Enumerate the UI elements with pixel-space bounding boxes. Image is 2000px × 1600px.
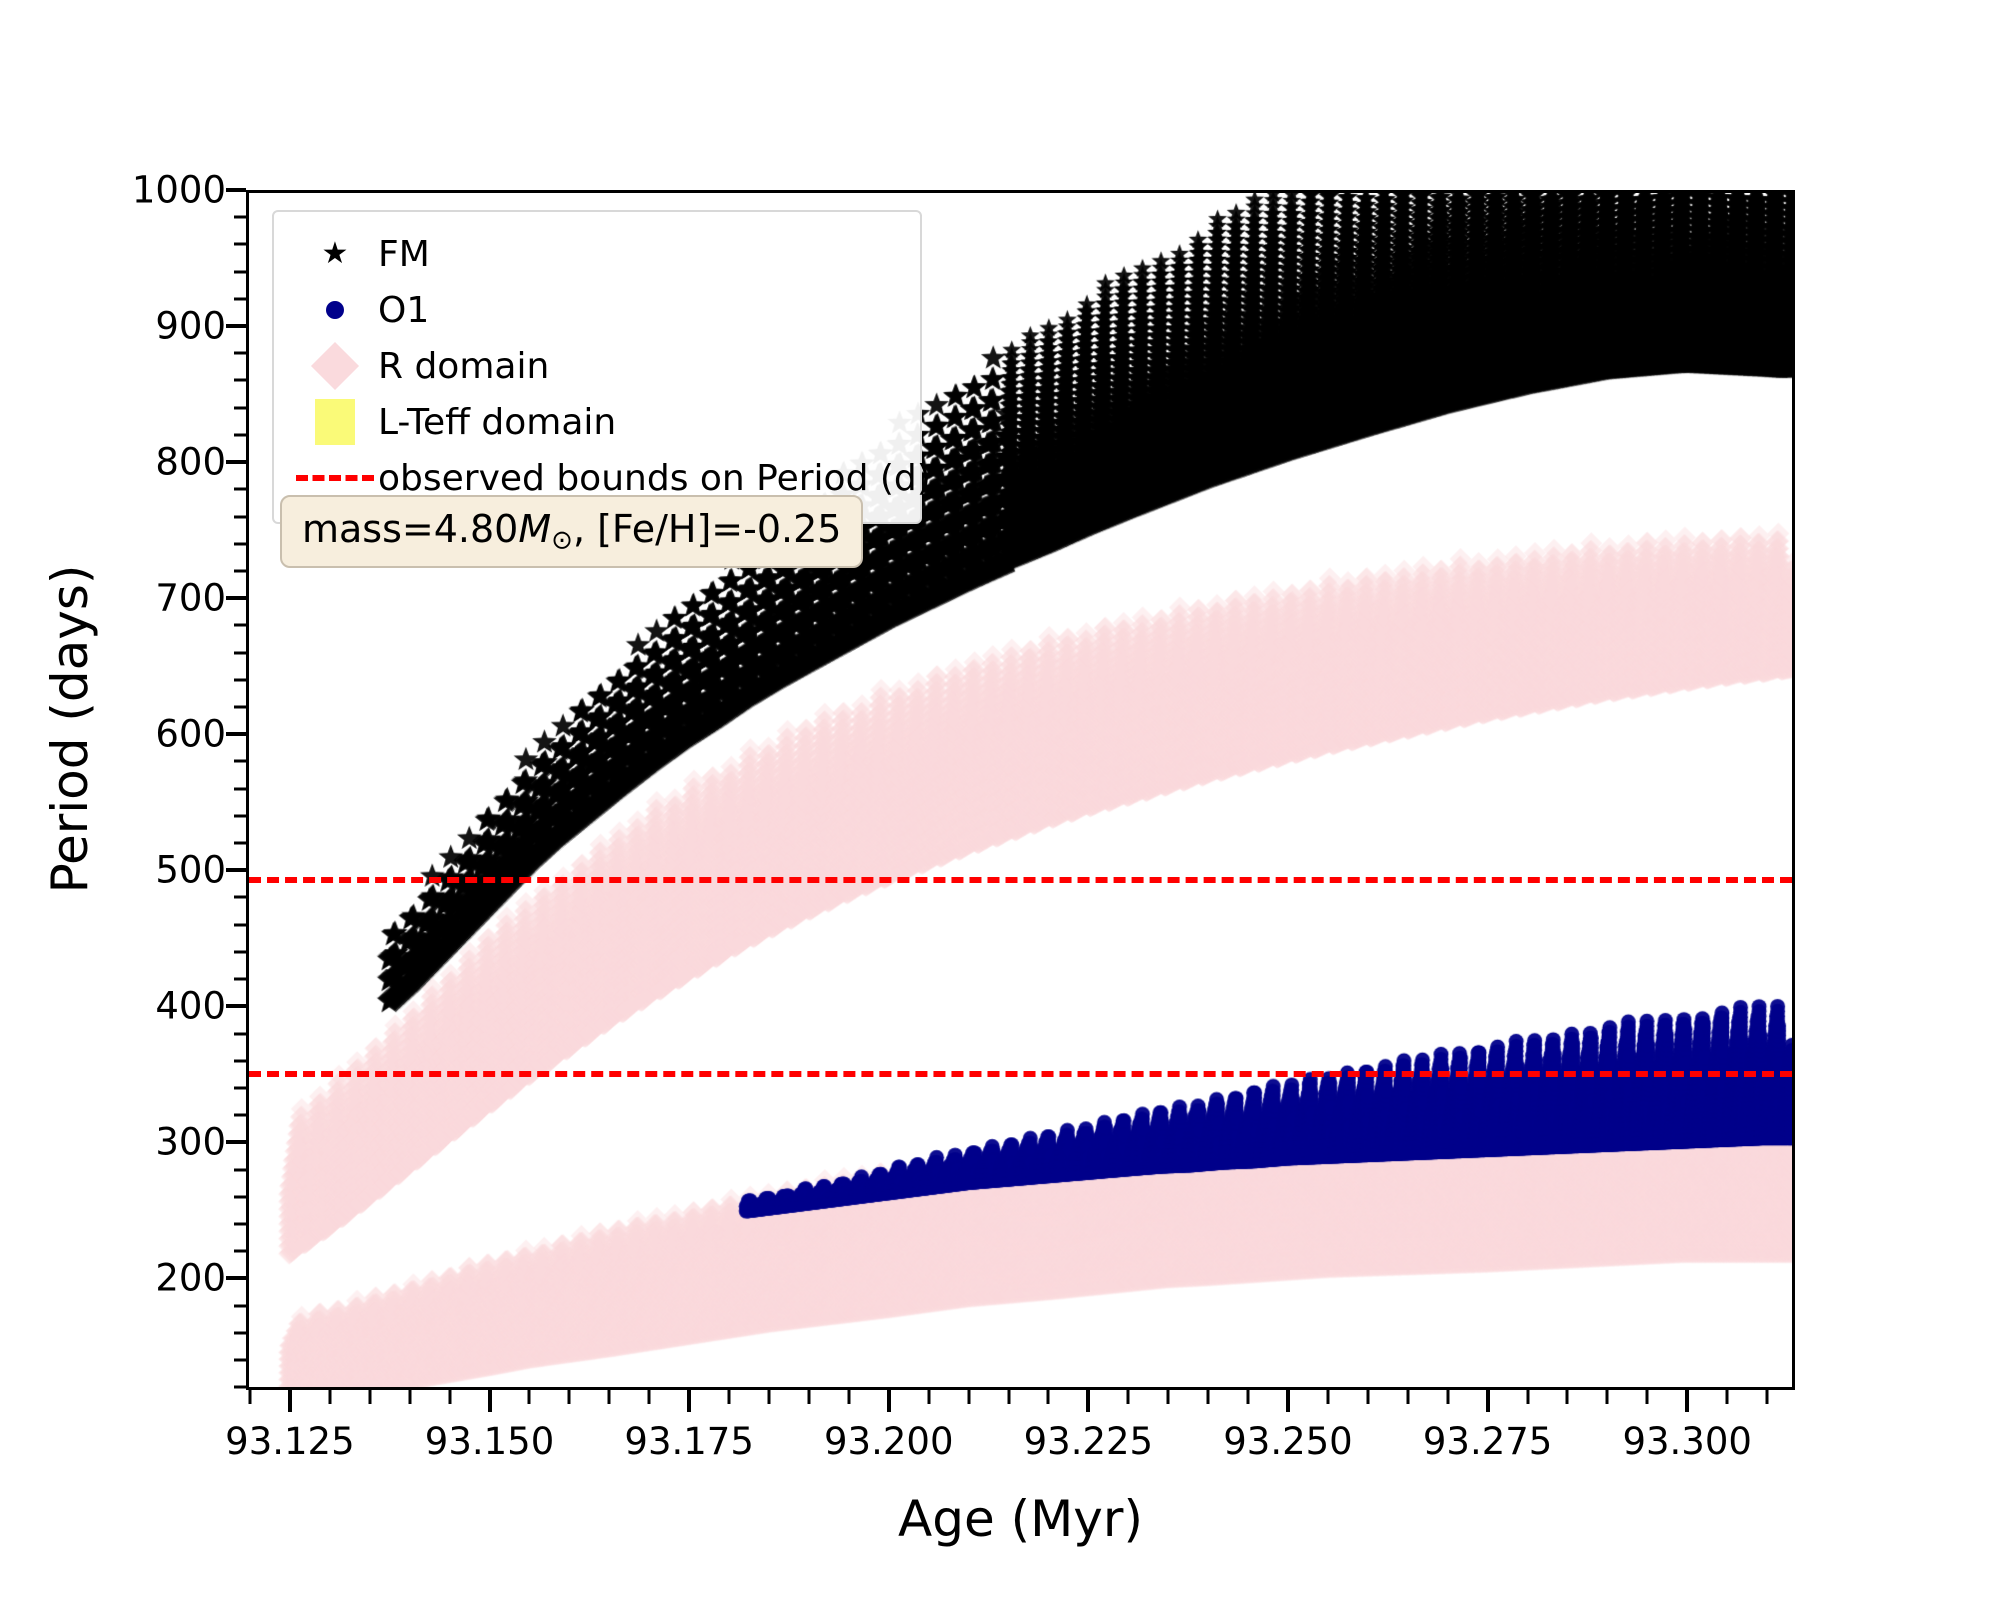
x-tick-label: 93.225 [1024, 1420, 1153, 1463]
circle-icon [292, 301, 378, 319]
y-tick-minor [234, 542, 246, 545]
annotation-prefix: mass=4.80 [302, 507, 518, 551]
x-tick-minor [1646, 1390, 1649, 1404]
x-tick-minor [1326, 1390, 1329, 1404]
x-tick-label: 93.150 [425, 1420, 554, 1463]
y-tick-minor [234, 678, 246, 681]
y-tick-label: 1000 [132, 172, 226, 209]
y-tick-minor [234, 243, 246, 246]
y-tick-minor [234, 1059, 246, 1062]
x-tick-minor [608, 1390, 611, 1404]
x-tick-major [1685, 1390, 1689, 1412]
dashed-line-icon [292, 475, 378, 481]
x-tick-label: 93.125 [225, 1420, 354, 1463]
x-tick-minor [1007, 1390, 1010, 1404]
annotation-mass-subscript: ⊙ [551, 526, 573, 556]
y-tick-major [226, 868, 246, 872]
x-tick-major [1286, 1390, 1290, 1412]
figure-root: 2003004005006007008009001000 Period (day… [0, 0, 2000, 1600]
annotation-suffix: , [Fe/H]=-0.25 [573, 507, 842, 551]
x-tick-minor [1526, 1390, 1529, 1404]
y-tick-major [226, 1140, 246, 1144]
x-tick-minor [1446, 1390, 1449, 1404]
y-tick-minor [234, 1032, 246, 1035]
legend-label-r-domain: R domain [378, 346, 549, 387]
x-tick-label: 93.175 [624, 1420, 753, 1463]
x-tick-minor [1726, 1390, 1729, 1404]
y-tick-minor [234, 297, 246, 300]
x-tick-label: 93.300 [1622, 1420, 1751, 1463]
legend-item-lteff-domain: L-Teff domain [292, 394, 902, 450]
y-tick-minor [234, 896, 246, 899]
y-tick-minor [234, 1304, 246, 1307]
y-tick-minor [234, 433, 246, 436]
x-tick-minor [648, 1390, 651, 1404]
x-tick-minor [767, 1390, 770, 1404]
y-tick-label: 300 [155, 1124, 226, 1161]
square-patch-icon [292, 399, 378, 445]
x-tick-minor [568, 1390, 571, 1404]
y-tick-minor [234, 352, 246, 355]
legend-item-fm: ★ FM [292, 226, 902, 282]
x-tick-minor [368, 1390, 371, 1404]
y-tick-minor [234, 1195, 246, 1198]
y-tick-major [226, 324, 246, 328]
x-tick-minor [408, 1390, 411, 1404]
y-tick-minor [234, 216, 246, 219]
x-tick-major [1086, 1390, 1090, 1412]
y-tick-major [226, 188, 246, 192]
x-tick-minor [1247, 1390, 1250, 1404]
x-tick-minor [1047, 1390, 1050, 1404]
annotation-mass-symbol: M [518, 507, 551, 551]
y-tick-minor [234, 923, 246, 926]
legend: ★ FM O1 R domain L-Teff domain observed … [272, 210, 922, 524]
x-tick-minor [1366, 1390, 1369, 1404]
x-tick-minor [528, 1390, 531, 1404]
y-tick-minor [234, 515, 246, 518]
y-tick-minor [234, 624, 246, 627]
x-tick-minor [1606, 1390, 1609, 1404]
x-tick-major [288, 1390, 292, 1412]
y-axis-label: Period (days) [41, 329, 99, 1129]
y-tick-minor [234, 1386, 246, 1389]
observed-period-upper-bound [249, 877, 1792, 883]
y-tick-minor [234, 379, 246, 382]
legend-label-observed-bounds: observed bounds on Period (d) [378, 458, 931, 499]
y-tick-minor [234, 1086, 246, 1089]
y-tick-minor [234, 978, 246, 981]
y-tick-major [226, 1004, 246, 1008]
x-tick-label: 93.275 [1423, 1420, 1552, 1463]
y-tick-minor [234, 1331, 246, 1334]
y-tick-minor [234, 760, 246, 763]
y-tick-minor [234, 1250, 246, 1253]
x-tick-minor [248, 1390, 251, 1404]
y-tick-minor [234, 842, 246, 845]
x-tick-minor [1207, 1390, 1210, 1404]
y-tick-minor [234, 569, 246, 572]
y-tick-label: 700 [155, 580, 226, 617]
star-icon: ★ [292, 239, 378, 269]
legend-item-r-domain: R domain [292, 338, 902, 394]
diamond-icon [292, 349, 378, 383]
x-tick-minor [1167, 1390, 1170, 1404]
y-tick-label: 800 [155, 444, 226, 481]
y-tick-minor [234, 1168, 246, 1171]
x-tick-minor [1766, 1390, 1769, 1404]
x-tick-minor [1127, 1390, 1130, 1404]
x-tick-major [687, 1390, 691, 1412]
x-tick-major [488, 1390, 492, 1412]
y-tick-minor [234, 787, 246, 790]
x-tick-major [887, 1390, 891, 1412]
x-tick-label: 93.200 [824, 1420, 953, 1463]
x-tick-minor [807, 1390, 810, 1404]
y-tick-minor [234, 814, 246, 817]
x-tick-minor [728, 1390, 731, 1404]
model-parameters-annotation: mass=4.80M⊙, [Fe/H]=-0.25 [280, 495, 863, 568]
x-tick-minor [967, 1390, 970, 1404]
x-axis-label: Age (Myr) [246, 1490, 1795, 1548]
y-tick-label: 500 [155, 852, 226, 889]
y-tick-label: 200 [155, 1260, 226, 1297]
y-tick-minor [234, 270, 246, 273]
legend-item-o1: O1 [292, 282, 902, 338]
x-tick-minor [927, 1390, 930, 1404]
x-tick-minor [1566, 1390, 1569, 1404]
y-tick-minor [234, 1359, 246, 1362]
legend-label-fm: FM [378, 234, 430, 275]
y-tick-label: 900 [155, 308, 226, 345]
x-tick-minor [328, 1390, 331, 1404]
y-tick-minor [234, 706, 246, 709]
x-tick-minor [448, 1390, 451, 1404]
y-tick-minor [234, 488, 246, 491]
y-tick-major [226, 732, 246, 736]
y-tick-label: 400 [155, 988, 226, 1025]
y-tick-minor [234, 1223, 246, 1226]
x-tick-major [1486, 1390, 1490, 1412]
x-tick-label: 93.250 [1223, 1420, 1352, 1463]
observed-period-lower-bound [249, 1071, 1792, 1077]
y-tick-minor [234, 950, 246, 953]
y-tick-minor [234, 651, 246, 654]
y-tick-minor [234, 1114, 246, 1117]
y-tick-minor [234, 406, 246, 409]
y-tick-label: 600 [155, 716, 226, 753]
legend-label-lteff-domain: L-Teff domain [378, 402, 616, 443]
x-tick-minor [1406, 1390, 1409, 1404]
x-tick-minor [847, 1390, 850, 1404]
y-tick-major [226, 460, 246, 464]
y-tick-major [226, 596, 246, 600]
y-tick-major [226, 1276, 246, 1280]
y-axis: 2003004005006007008009001000 [0, 0, 246, 1600]
legend-label-o1: O1 [378, 290, 429, 331]
